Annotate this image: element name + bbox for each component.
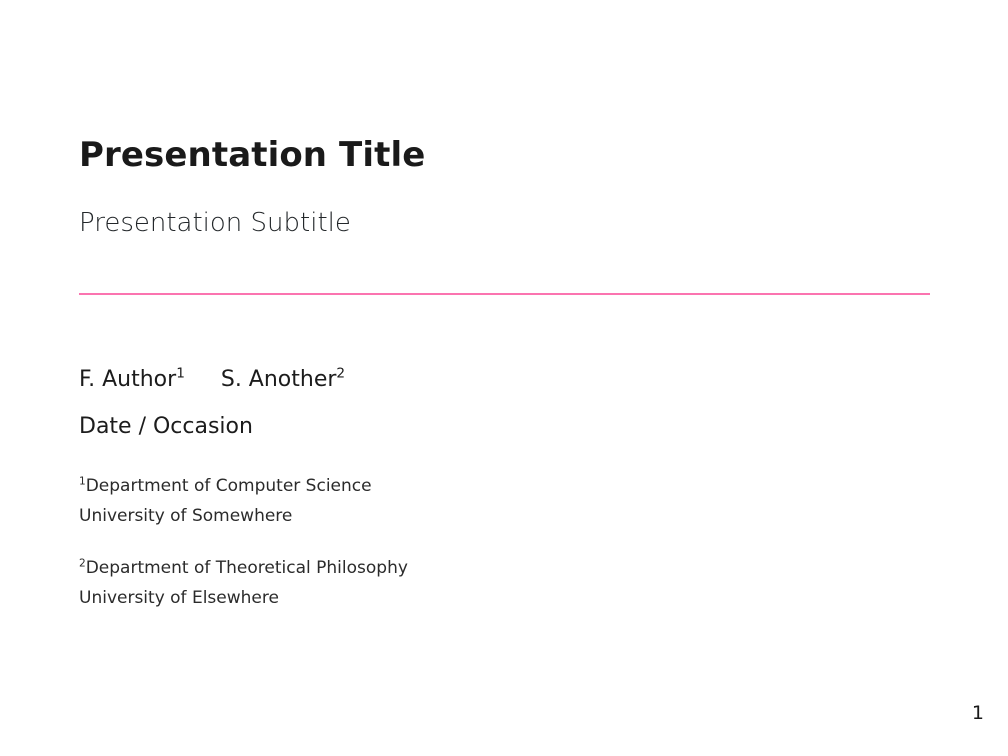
presentation-title: Presentation Title [79,136,425,175]
author-affiliation-mark-1: 1 [176,366,185,382]
presentation-subtitle: Presentation Subtitle [79,209,351,239]
affiliation-block-2: 2Department of Theoretical Philosophy Un… [79,553,408,614]
title-slide: Presentation Title Presentation Subtitle… [0,0,1008,756]
affiliation-department-1: Department of Computer Science [86,476,372,496]
affiliation-block-1: 1Department of Computer Science Universi… [79,471,372,532]
author-entry-2: S. Another2 [221,367,345,392]
date-occasion: Date / Occasion [79,414,253,439]
author-affiliation-mark-2: 2 [336,366,345,382]
author-name-1: F. Author [79,367,176,392]
affiliation-mark-1: 1 [79,475,86,487]
page-number: 1 [972,702,984,724]
affiliation-institution-1: University of Somewhere [79,501,372,531]
affiliation-department-line-2: 2Department of Theoretical Philosophy [79,553,408,583]
affiliation-department-2: Department of Theoretical Philosophy [86,558,408,578]
affiliation-department-line-1: 1Department of Computer Science [79,471,372,501]
author-list: F. Author1S. Another2 [79,367,345,392]
accent-divider-rule [79,293,930,295]
affiliation-institution-2: University of Elsewhere [79,583,408,613]
author-entry-1: F. Author1 [79,367,185,392]
author-name-2: S. Another [221,367,337,392]
affiliation-mark-2: 2 [79,557,86,569]
